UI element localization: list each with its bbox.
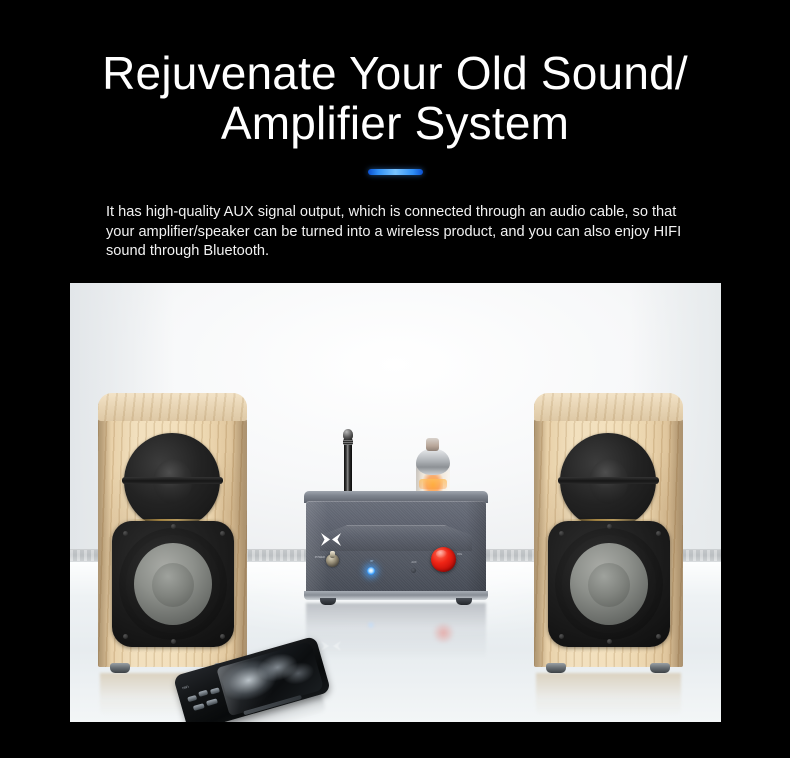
right-bookshelf-speaker: [532, 393, 685, 683]
amplifier-foot: [456, 598, 472, 605]
tube-plate-glow: [419, 479, 447, 489]
tube-amplifier: POWER BT AUX VOL: [304, 491, 488, 621]
driver-screw: [220, 634, 225, 639]
phone-key: [206, 698, 218, 706]
knob-reflection: [432, 623, 455, 643]
speaker-foot: [546, 663, 566, 673]
driver-screw: [607, 639, 612, 644]
aux-led-indicator: [411, 568, 416, 573]
driver-screw: [656, 634, 661, 639]
phone-key: [187, 695, 197, 702]
driver-screw: [220, 531, 225, 536]
driver-screw: [171, 524, 176, 529]
amplifier-foot: [320, 598, 336, 605]
tweeter-bar: [558, 477, 659, 484]
phone-key: [198, 690, 208, 697]
aux-label: AUX: [403, 561, 425, 564]
speaker-foot: [110, 663, 130, 673]
blue-gradient-divider: [368, 169, 423, 175]
woofer-dust-cap: [152, 563, 194, 607]
cabinet-top-grain: [98, 393, 247, 421]
tube-silver-dome: [416, 449, 450, 475]
speaker-reflection: [536, 673, 681, 717]
product-photo: POWER BT AUX VOL HiFi: [70, 283, 721, 722]
page-title: Rejuvenate Your Old Sound/ Amplifier Sys…: [0, 48, 790, 148]
driver-screw: [171, 639, 176, 644]
amplifier-left-highlight: [306, 501, 328, 595]
cabinet-top-grain: [534, 393, 683, 421]
bluetooth-label: BT: [364, 560, 380, 563]
woofer-dust-cap: [588, 563, 630, 607]
antenna-tip: [343, 429, 353, 440]
description-text: It has high-quality AUX signal output, w…: [106, 203, 691, 262]
phone-key: [193, 703, 205, 711]
power-label: POWER: [309, 556, 325, 559]
power-toggle-bat[interactable]: [330, 551, 335, 558]
volume-label: VOL: [457, 553, 473, 556]
divider-container: [0, 168, 790, 176]
logo-reflection: [320, 639, 342, 653]
phone-key: [210, 687, 220, 694]
left-bookshelf-speaker: [96, 393, 249, 683]
amplifier-right-shadow: [466, 501, 486, 595]
driver-screw: [656, 531, 661, 536]
page-root: Rejuvenate Your Old Sound/ Amplifier Sys…: [0, 0, 790, 758]
driver-screw: [559, 531, 564, 536]
volume-knob-highlight: [436, 550, 447, 558]
driver-screw: [123, 634, 128, 639]
driver-screw: [559, 634, 564, 639]
speaker-foot: [650, 663, 670, 673]
cabinet-left-edge: [98, 415, 111, 667]
driver-screw: [607, 524, 612, 529]
driver-screw: [123, 531, 128, 536]
tube-neck: [426, 438, 439, 451]
bluetooth-led-indicator: [367, 567, 375, 575]
led-reflection: [367, 621, 375, 629]
tweeter-bar: [122, 477, 223, 484]
x-brand-logo: [320, 531, 342, 548]
cabinet-left-edge: [534, 415, 547, 667]
